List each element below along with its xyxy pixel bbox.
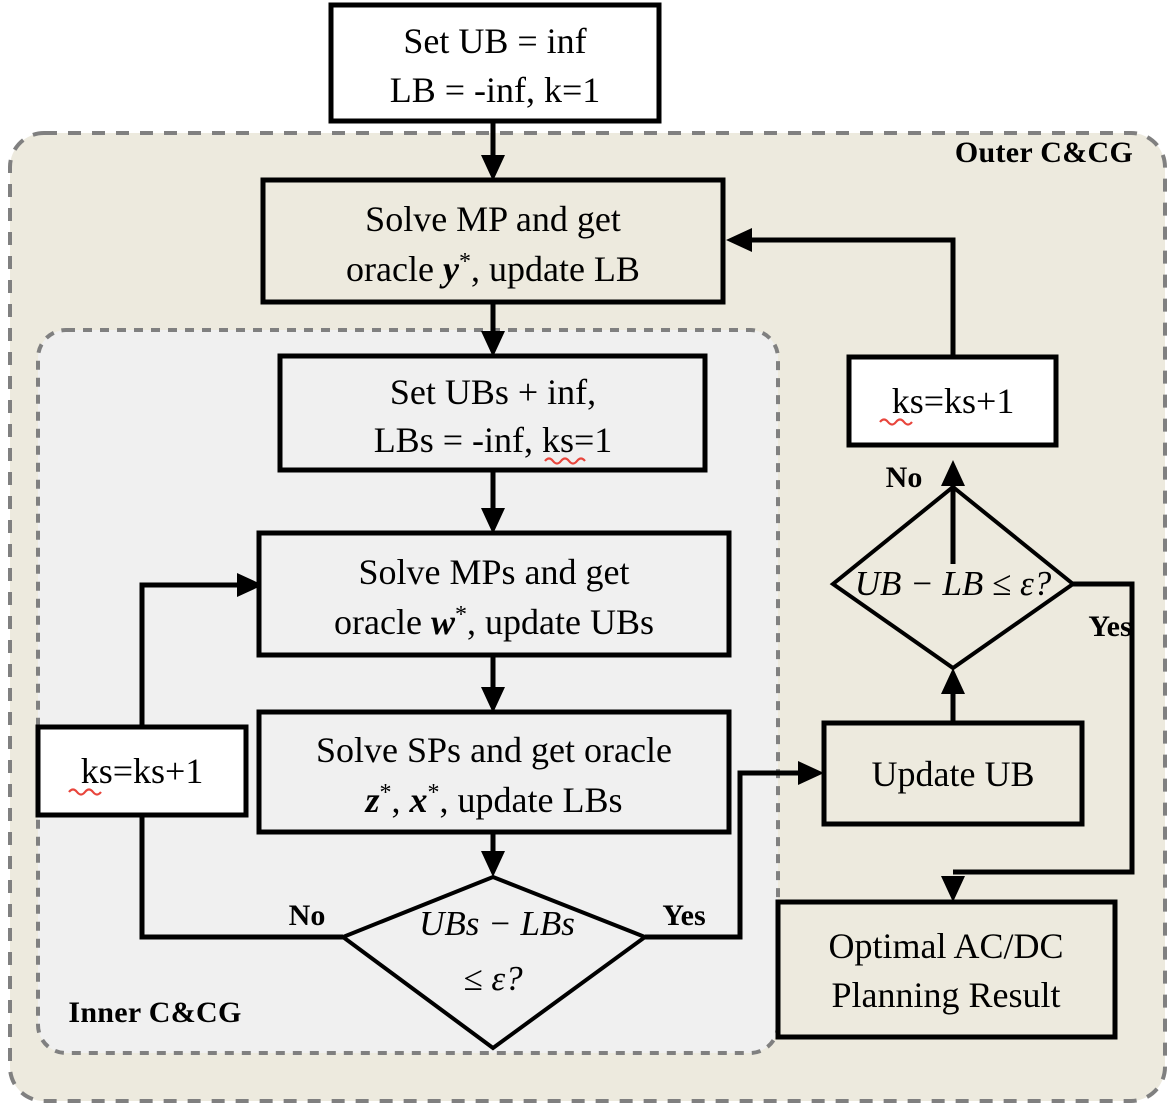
- node-solve-mp-line2: oracle y*, update LB: [346, 249, 640, 289]
- node-solve-mps-var: w: [431, 602, 456, 642]
- node-result[interactable]: [778, 902, 1115, 1037]
- node-solve-sps-line1: Solve SPs and get oracle: [316, 730, 672, 770]
- node-solve-mps-line2-pre: oracle: [334, 602, 431, 642]
- node-solve-mp-line2-post: , update LB: [471, 249, 640, 289]
- node-solve-sps-mid: ,: [392, 780, 410, 820]
- region-inner-label: Inner C&CG: [68, 996, 241, 1029]
- node-result-line2: Planning Result: [831, 975, 1060, 1015]
- node-inner-decision-line1: UBs − LBs: [419, 904, 575, 943]
- node-solve-sps-var2: x: [409, 780, 428, 820]
- node-solve-mp-line1: Solve MP and get: [365, 199, 621, 239]
- node-update-ub-label: Update UB: [872, 754, 1035, 794]
- node-solve-mps-line2: oracle w*, update UBs: [334, 602, 654, 642]
- node-solve-mps-sup: *: [455, 602, 467, 628]
- node-inner-decision-line2: ≤ ε?: [463, 959, 523, 998]
- node-solve-mps-line2-post: , update UBs: [467, 602, 654, 642]
- branch-label-outer-yes: Yes: [1088, 610, 1131, 643]
- flowchart-svg: Outer C&CG Inner C&CG: [0, 0, 1175, 1113]
- node-solve-mp-var: y: [439, 249, 460, 289]
- node-solve-mp-sup: *: [459, 249, 471, 275]
- node-set-ubs-line2: LBs = -inf, ks=1: [374, 420, 613, 460]
- branch-label-inner-yes: Yes: [662, 899, 705, 932]
- branch-label-inner-no: No: [289, 899, 326, 932]
- node-solve-mp-line2-pre: oracle: [346, 249, 443, 289]
- node-result-line1: Optimal AC/DC: [828, 926, 1063, 966]
- node-ks-inner-label: ks=ks+1: [81, 751, 204, 791]
- node-solve-mps-line1: Solve MPs and get: [358, 552, 629, 592]
- node-outer-decision-line1: UB − LB ≤ ε?: [855, 564, 1052, 603]
- node-solve-sps-line2: z*, x*, update LBs: [364, 780, 623, 820]
- region-outer-label: Outer C&CG: [955, 136, 1133, 169]
- node-solve-sps-sup2: *: [428, 780, 440, 806]
- node-solve-sps-var1: z: [364, 780, 380, 820]
- node-init-line1: Set UB = inf: [403, 21, 586, 61]
- node-solve-sps-sup1: *: [380, 780, 392, 806]
- node-ks-outer-label: ks=ks+1: [892, 381, 1015, 421]
- branch-label-outer-no: No: [886, 461, 923, 494]
- node-set-ubs-line1: Set UBs + inf,: [390, 372, 596, 412]
- flowchart-canvas: Outer C&CG Inner C&CG: [0, 0, 1175, 1113]
- node-solve-sps-line2-post: , update LBs: [440, 780, 623, 820]
- node-init-line2: LB = -inf, k=1: [390, 70, 601, 110]
